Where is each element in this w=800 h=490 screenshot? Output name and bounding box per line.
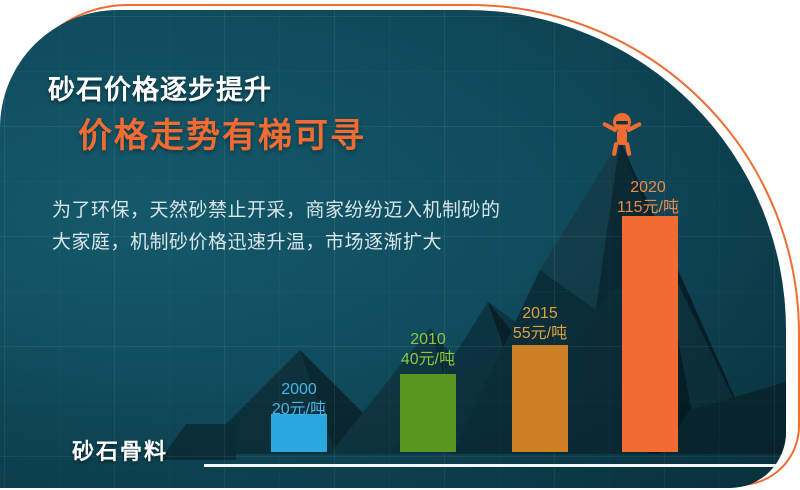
bar-label-2000: 200020元/吨 — [258, 380, 340, 420]
footer-wedge — [160, 424, 236, 460]
body-paragraph: 为了环保，天然砂禁止开采，商家纷纷迈入机制砂的大家庭，机制砂价格迅速升温，市场逐… — [52, 195, 504, 259]
bar-label-2015: 201555元/吨 — [499, 304, 581, 344]
person-torso — [617, 130, 627, 145]
bar-year-2015: 2015 — [499, 304, 581, 324]
teal-panel: 200020元/吨201040元/吨201555元/吨2020115元/吨 砂石… — [0, 10, 786, 488]
bar-label-2020: 2020115元/吨 — [607, 178, 689, 218]
celebrating-person-icon — [600, 110, 644, 156]
bar-price-2020: 115元/吨 — [607, 198, 689, 218]
chart-baseline-axis — [204, 464, 786, 467]
page-subtitle: 价格走势有梯可寻 — [78, 108, 366, 157]
bar-price-2015: 55元/吨 — [499, 324, 581, 344]
person-leg-right — [625, 142, 632, 156]
bar-label-2010: 201040元/吨 — [387, 330, 469, 370]
bar-2010[interactable] — [400, 374, 456, 452]
person-eyes — [616, 121, 628, 124]
bar-year-2000: 2000 — [258, 380, 340, 400]
bar-2020[interactable] — [622, 216, 678, 452]
page-title: 砂石价格逐步提升 — [48, 68, 272, 107]
bar-price-2000: 20元/吨 — [258, 400, 340, 420]
bar-2015[interactable] — [512, 345, 568, 452]
bar-year-2020: 2020 — [607, 178, 689, 198]
footer-label: 砂石骨料 — [72, 434, 168, 466]
infographic-canvas: 200020元/吨201040元/吨201555元/吨2020115元/吨 砂石… — [0, 0, 800, 490]
person-leg-left — [612, 142, 619, 156]
bar-price-2010: 40元/吨 — [387, 350, 469, 370]
bar-year-2010: 2010 — [387, 330, 469, 350]
